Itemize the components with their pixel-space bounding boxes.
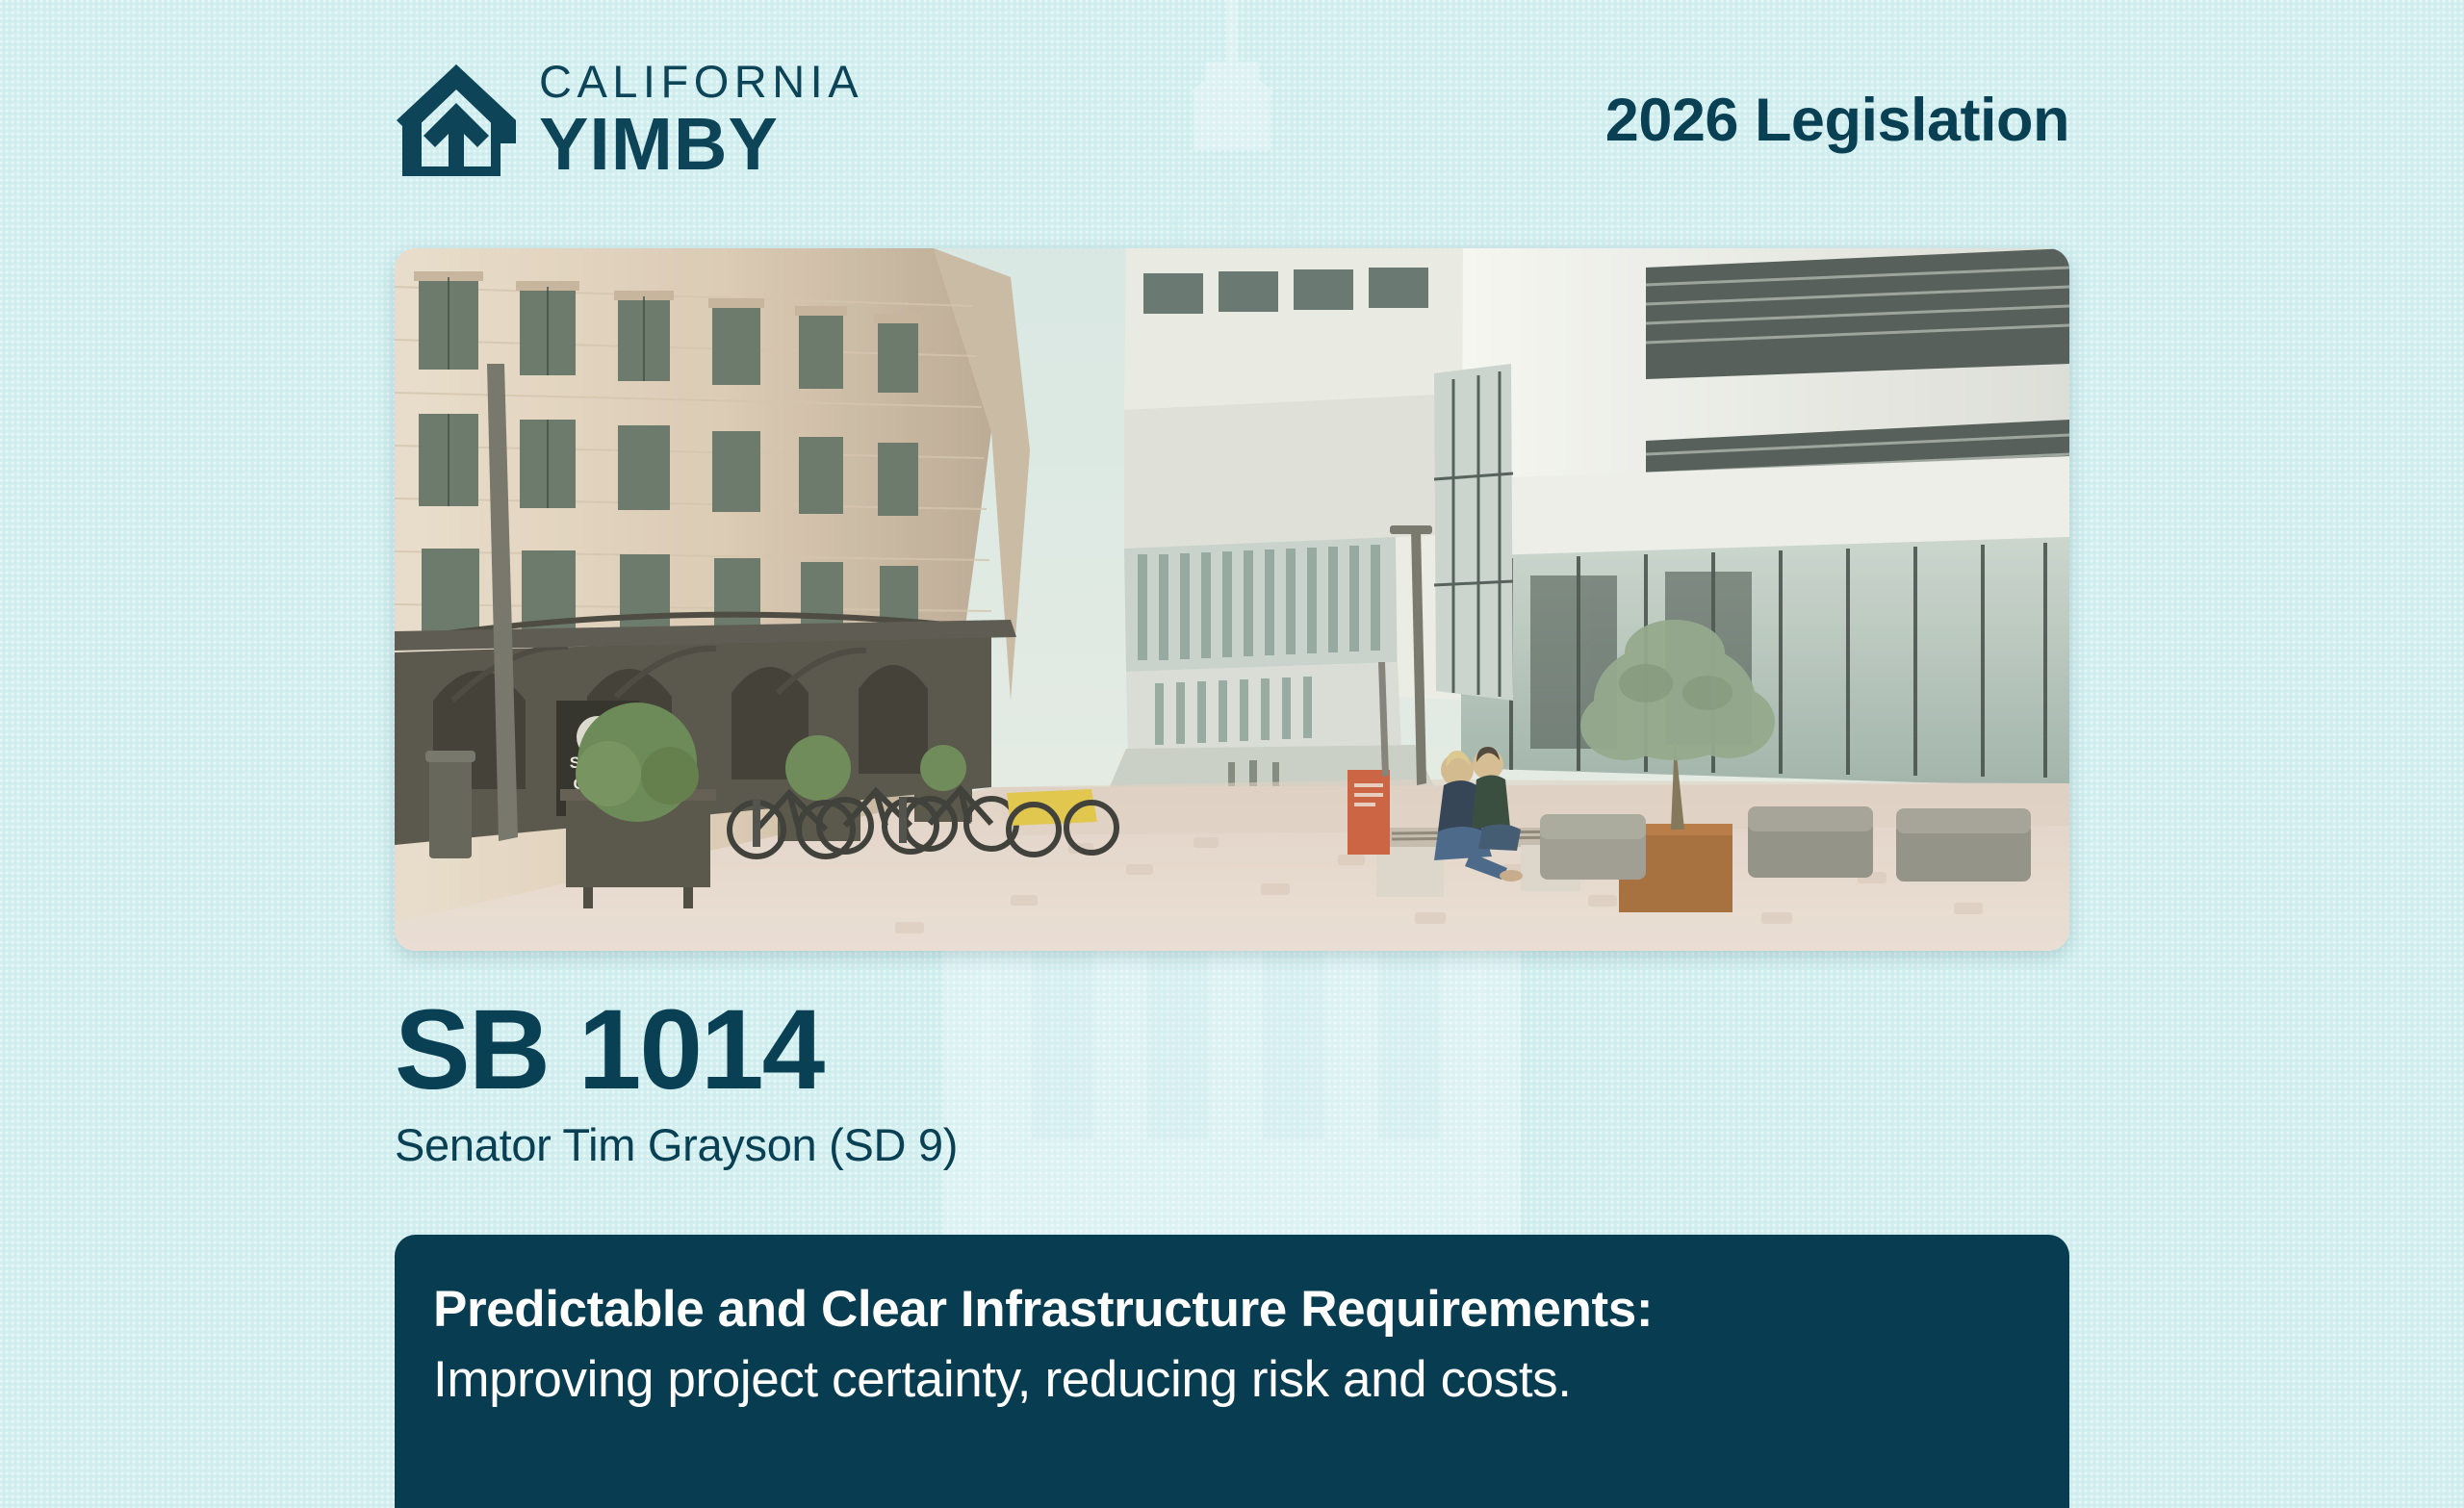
- bill-number: SB 1014: [395, 991, 2069, 1111]
- legislation-poster: CALIFORNIA YIMBY 2026 Legislation: [0, 0, 2464, 1508]
- hero-photo: SCAPE GAME: [395, 248, 2069, 951]
- summary-headline: Predictable and Clear Infrastructure Req…: [433, 1281, 2031, 1340]
- bill-author: Senator Tim Grayson (SD 9): [395, 1118, 2069, 1171]
- california-yimby-logo[interactable]: CALIFORNIA YIMBY: [395, 59, 863, 182]
- summary-banner: Predictable and Clear Infrastructure Req…: [395, 1235, 2069, 1508]
- house-with-up-arrow-icon: [395, 61, 518, 180]
- poster-header: CALIFORNIA YIMBY 2026 Legislation: [395, 58, 2069, 183]
- logo-wordmark: CALIFORNIA YIMBY: [539, 59, 863, 182]
- session-title: 2026 Legislation: [1605, 86, 2069, 155]
- logo-line-yimby: YIMBY: [539, 108, 863, 182]
- logo-line-california: CALIFORNIA: [539, 59, 863, 104]
- bill-identity: SB 1014 Senator Tim Grayson (SD 9): [395, 991, 2069, 1171]
- summary-subline: Improving project certainty, reducing ri…: [433, 1351, 2031, 1410]
